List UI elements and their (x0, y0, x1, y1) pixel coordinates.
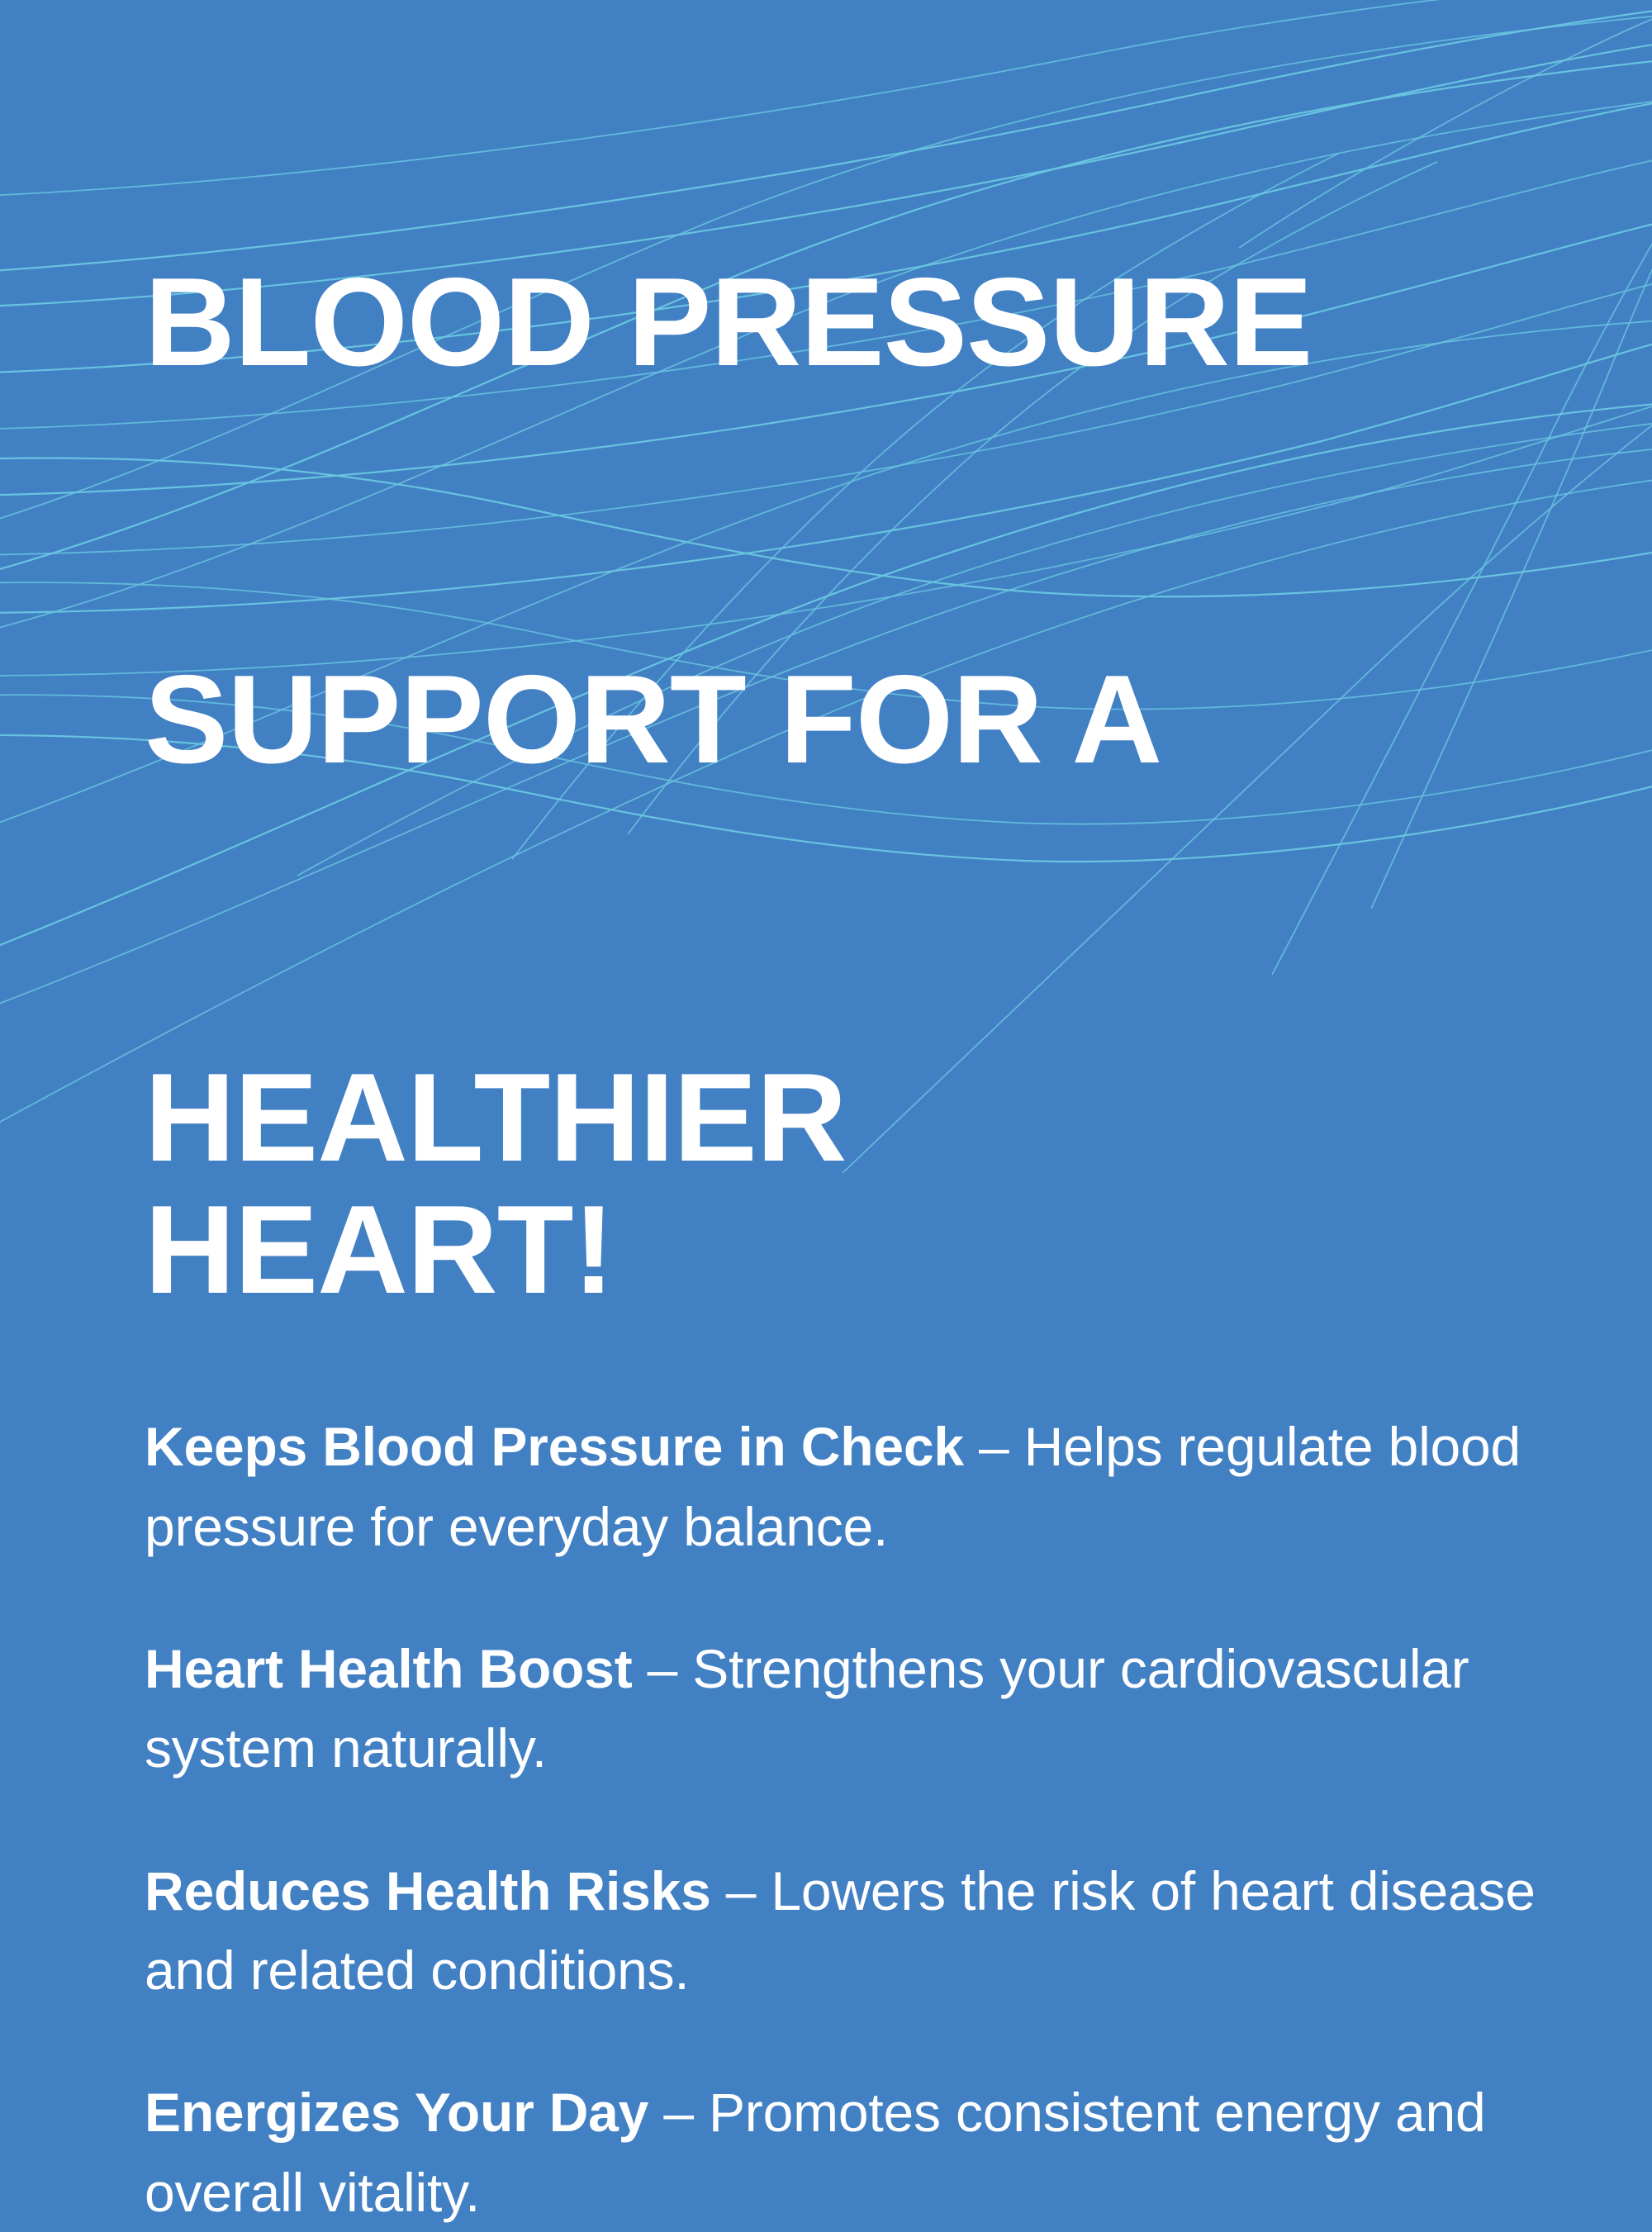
benefit-lead-in: Keeps Blood Pressure in Check (145, 1416, 964, 1477)
headline-line-1: BLOOD PRESSURE (145, 252, 1312, 392)
headline-line-3: HEALTHIER HEART! (145, 1047, 847, 1320)
page-title: BLOOD PRESSURE SUPPORT FOR A HEALTHIER H… (145, 124, 1317, 1316)
benefit-lead-in: Heart Health Boost (145, 1638, 633, 1699)
list-item: Keeps Blood Pressure in Check – Helps re… (145, 1407, 1536, 1566)
benefit-separator: – (711, 1860, 771, 1921)
benefit-separator: – (633, 1638, 693, 1699)
benefit-lead-in: Energizes Your Day (145, 2082, 648, 2143)
benefits-list: Keeps Blood Pressure in Check – Helps re… (145, 1407, 1536, 2232)
benefit-separator: – (648, 2082, 709, 2143)
benefit-separator: – (964, 1416, 1024, 1477)
benefit-lead-in: Reduces Health Risks (145, 1860, 711, 1921)
list-item: Reduces Health Risks – Lowers the risk o… (145, 1851, 1536, 2011)
list-item: Heart Health Boost – Strengthens your ca… (145, 1629, 1536, 1788)
poster-root: BLOOD PRESSURE SUPPORT FOR A HEALTHIER H… (0, 0, 1652, 1652)
list-item: Energizes Your Day – Promotes consistent… (145, 2073, 1536, 2232)
headline-line-2: SUPPORT FOR A (145, 649, 1161, 790)
